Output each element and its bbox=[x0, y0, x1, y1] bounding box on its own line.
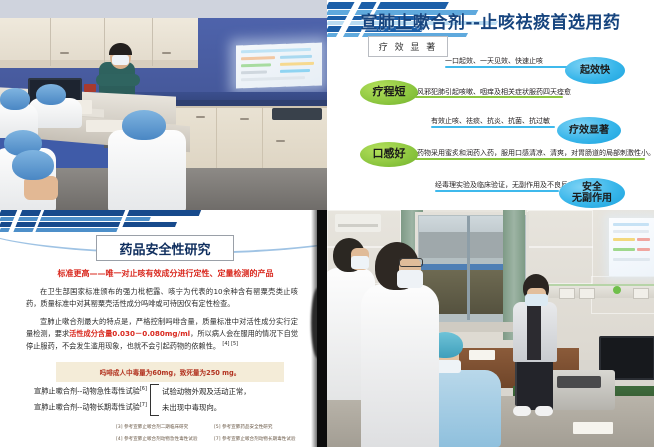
benefit-text-4: 药物采用蜜炙和润药入药，服用口感清凉、清爽，对胃肠道的局部刺激性小。 bbox=[417, 148, 654, 158]
attendee-coat bbox=[108, 130, 186, 210]
cabinet-handle bbox=[162, 52, 171, 54]
benefit-text-3: 有效止咳、祛痰、抗炎、抗菌、抗过敏 bbox=[431, 116, 550, 126]
projected-slide bbox=[609, 218, 654, 276]
footnote-2: [5] 参考宣肺药品安全性研究 bbox=[214, 424, 273, 430]
safety-study-slide: 药品安全性研究 标准更高——唯一对止咳有效成分进行定性、定量检测的产品 在卫生部… bbox=[0, 210, 327, 447]
test-row-2: 宣肺止嗽合剂--动物长期毒性试验[7] bbox=[34, 402, 147, 412]
benefit-underline-3 bbox=[431, 126, 555, 128]
presenter-face-mask bbox=[112, 55, 129, 65]
doctor-2-face-mask bbox=[397, 270, 423, 288]
cabinet-seam bbox=[152, 18, 153, 66]
paragraph-2-refs: [4] [5] bbox=[222, 341, 238, 347]
photo-scene-lab bbox=[0, 0, 327, 210]
speaker-jacket-panel bbox=[527, 304, 541, 360]
rail-indicator bbox=[613, 286, 621, 294]
ward-training-photo: 甘肃神康医药 bbox=[327, 210, 654, 447]
papers bbox=[573, 422, 613, 434]
speaker-legs bbox=[517, 360, 553, 410]
slide-title: 宣肺止嗽合剂--止咳祛痰首选用药 bbox=[327, 8, 654, 33]
benefit-underline-4 bbox=[415, 158, 645, 160]
test-row-2-ref: [7] bbox=[140, 402, 147, 408]
product-slide: 宣肺止嗽合剂--止咳祛痰首选用药 疗 效 显 著 一口起效、一天见效、快速止咳 … bbox=[327, 0, 654, 210]
doctor-2-coat bbox=[361, 284, 439, 447]
photo-scene-ward bbox=[327, 210, 654, 447]
benefit-underline-2 bbox=[415, 96, 563, 98]
wall-socket bbox=[579, 288, 595, 299]
benefit-badge-2: 疗程短 bbox=[360, 80, 418, 105]
callout-text: 吗啡成人中毒量为60mg，致死量为250 mg。 bbox=[100, 367, 241, 377]
conclusion-line-1: 试验动物外观及活动正常， bbox=[162, 386, 251, 397]
footnote-1: [3] 参考宣肺止嗽合剂二期临床研究 bbox=[116, 424, 188, 430]
benefit-badge-1: 起效快 bbox=[565, 57, 625, 84]
speaker-face-mask bbox=[525, 294, 548, 306]
air-conditioner bbox=[335, 214, 381, 232]
cabinet-seam bbox=[262, 106, 263, 172]
benefit-underline-1 bbox=[445, 66, 573, 68]
papers bbox=[469, 350, 495, 360]
paragraph-2: 宣肺止嗽合剂最大的特点是，严格控制吗啡含量，质量标准中对活性成分实行定量检测，要… bbox=[26, 316, 298, 352]
benefit-badge-5-line2: 无副作用 bbox=[572, 193, 612, 204]
lab-classroom-photo bbox=[0, 0, 327, 210]
benefit-badge-4: 口感好 bbox=[360, 142, 418, 167]
benefit-badge-3: 疗效显著 bbox=[557, 117, 621, 144]
red-object bbox=[84, 84, 96, 92]
wall-socket bbox=[559, 288, 575, 299]
brace-bracket bbox=[150, 384, 159, 416]
presenter-arms bbox=[96, 74, 140, 86]
test-row-2-label: 宣肺止嗽合剂--动物长期毒性试验 bbox=[34, 402, 140, 411]
speaker-shoe bbox=[535, 406, 553, 416]
slide-subtitle-box: 疗 效 显 著 bbox=[368, 36, 448, 57]
benefit-text-1: 一口起效、一天见效、快速止咳 bbox=[445, 56, 543, 66]
test-row-1: 宣肺止嗽合剂--动物急性毒性试验[6] bbox=[34, 386, 147, 396]
footnote-4: [7] 参考宣肺止嗽合剂动物长期毒性试验 bbox=[214, 436, 295, 442]
window-mullion bbox=[467, 216, 470, 320]
attendee-blue-cap bbox=[36, 84, 66, 105]
paragraph-1: 在卫生部国家标准颁布的强力枇杷露、咳宁为代表的10余种含有罂粟壳类止咳药，质量标… bbox=[26, 286, 298, 310]
benefit-badge-5: 安全 无副作用 bbox=[559, 178, 625, 208]
cabinet-handle bbox=[196, 116, 205, 118]
speaker-shoe bbox=[513, 406, 531, 416]
cabinet-handle bbox=[276, 140, 285, 142]
test-row-1-label: 宣肺止嗽合剂--动物急性毒性试验 bbox=[34, 386, 140, 395]
paragraph-2-highlight: 活性成分含量0.030－0.080mg/ml bbox=[69, 329, 190, 338]
slide-headline: 标准更高——唯一对止咳有效成分进行定性、定量检测的产品 bbox=[38, 268, 293, 279]
printer bbox=[545, 370, 615, 410]
attendee-blue-cap bbox=[12, 150, 54, 180]
wall-tile bbox=[527, 210, 593, 248]
slide-title: 药品安全性研究 bbox=[96, 235, 234, 261]
callout-box: 吗啡成人中毒量为60mg，致死量为250 mg。 bbox=[56, 362, 284, 382]
wall-socket bbox=[633, 288, 649, 299]
test-row-1-ref: [6] bbox=[140, 386, 147, 392]
attendee-blue-cap bbox=[122, 110, 166, 140]
photo-edge-strip bbox=[317, 210, 327, 447]
attendee-blue-cap bbox=[0, 88, 30, 110]
cabinet-seam bbox=[50, 18, 51, 66]
benefit-underline-5 bbox=[435, 190, 559, 192]
doctor-2-glasses bbox=[399, 258, 423, 267]
projected-slide bbox=[236, 42, 322, 88]
conclusion-line-2: 未出现中毒现向。 bbox=[162, 402, 221, 413]
doctor-1-face-mask bbox=[351, 256, 369, 269]
footnote-3: [4] 参考宣肺止嗽合剂动物急性毒性试验 bbox=[116, 436, 197, 442]
benefit-badge-5-line1: 安全 bbox=[582, 182, 602, 193]
cabinet-handle bbox=[60, 52, 69, 54]
cabinet-seam bbox=[216, 106, 217, 172]
screenshot-collage: 宣肺止嗽合剂--止咳祛痰首选用药 疗 效 显 著 一口起效、一天见效、快速止咳 … bbox=[0, 0, 654, 447]
cabinet-seam bbox=[104, 18, 105, 66]
lab-sink bbox=[272, 108, 322, 120]
cabinet-handle bbox=[240, 118, 249, 120]
